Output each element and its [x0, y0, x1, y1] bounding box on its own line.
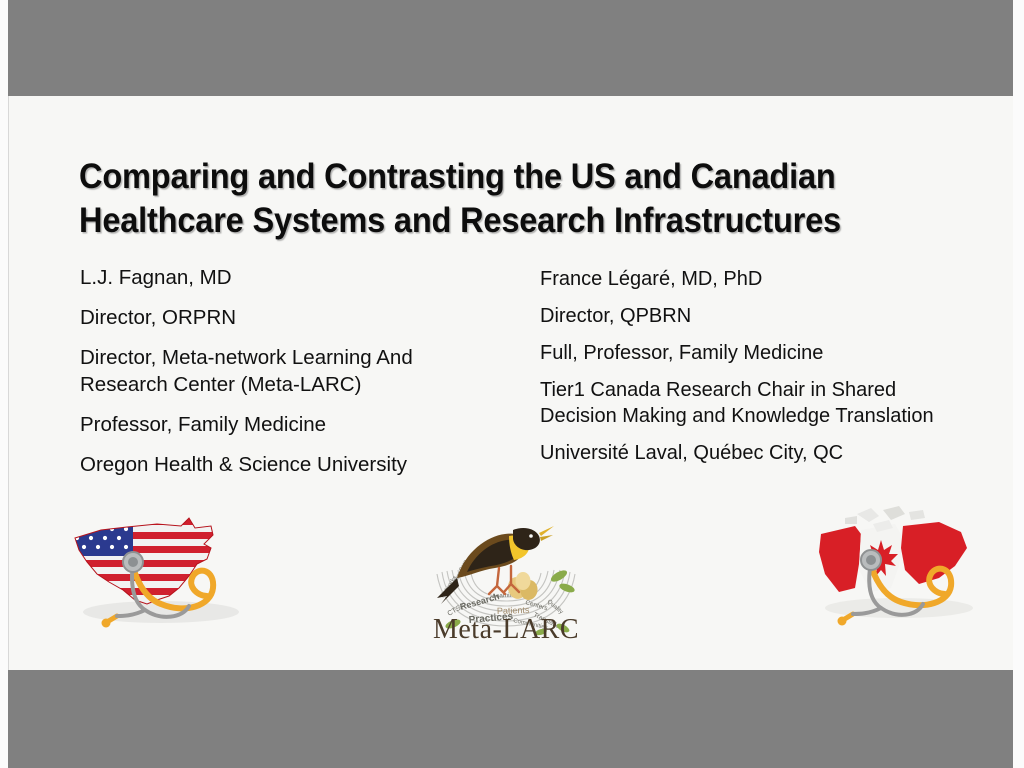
author-left-name: L.J. Fagnan, MD	[80, 264, 500, 291]
canada-healthcare-image	[799, 504, 1004, 644]
slide-title: Comparing and Contrasting the US and Can…	[79, 155, 888, 243]
author-left-affiliation: Oregon Health & Science University	[80, 451, 500, 478]
author-column-right: France Légaré, MD, PhD Director, QPBRN F…	[540, 266, 960, 477]
letterbox-band-bottom	[8, 670, 1013, 768]
slide-title-line-2: Healthcare Systems and Research Infrastr…	[79, 199, 888, 243]
us-map-stethoscope-icon	[61, 504, 271, 644]
meta-larc-logo: Research Practices Patients CTSA Learnin…	[413, 502, 599, 660]
author-column-left: L.J. Fagnan, MD Director, ORPRN Director…	[80, 264, 500, 491]
frame-edge-right	[1013, 0, 1024, 768]
author-right-affiliation: Université Laval, Québec City, QC	[540, 440, 960, 466]
author-right-role-2: Full, Professor, Family Medicine	[540, 340, 960, 366]
author-left-role-1: Director, ORPRN	[80, 304, 500, 331]
author-right-role-1: Director, QPBRN	[540, 303, 960, 329]
us-healthcare-image	[61, 504, 271, 644]
canada-map-stethoscope-icon	[799, 504, 1004, 644]
author-left-role-2: Director, Meta-network Learning And Rese…	[80, 344, 500, 398]
author-right-name: France Légaré, MD, PhD	[540, 266, 960, 292]
slide-title-line-1: Comparing and Contrasting the US and Can…	[79, 155, 888, 199]
meta-larc-wordmark: Meta-LARC	[413, 614, 599, 646]
slide-canvas: Comparing and Contrasting the US and Can…	[9, 96, 1013, 670]
canada-map-fill	[819, 506, 967, 592]
author-left-role-3: Professor, Family Medicine	[80, 411, 500, 438]
presentation-viewer: Comparing and Contrasting the US and Can…	[0, 0, 1024, 768]
letterbox-band-top	[8, 0, 1013, 96]
frame-edge-left	[0, 0, 8, 768]
author-right-role-3: Tier1 Canada Research Chair in Shared De…	[540, 377, 960, 429]
